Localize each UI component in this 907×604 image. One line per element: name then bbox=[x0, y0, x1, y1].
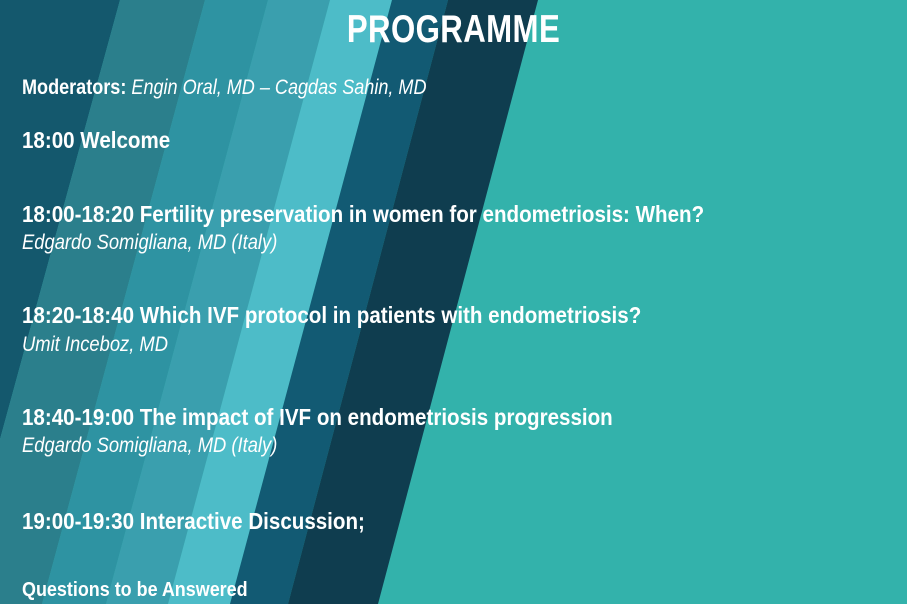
session-title: 18:40-19:00 The impact of IVF on endomet… bbox=[22, 404, 884, 431]
session-interactive-discussion: 19:00-19:30 Interactive Discussion; bbox=[22, 508, 885, 535]
programme-slide: PROGRAMME Moderators: Engin Oral, MD – C… bbox=[0, 0, 907, 604]
moderators-line: Moderators: Engin Oral, MD – Cagdas Sahi… bbox=[22, 76, 764, 101]
session-welcome: 18:00 Welcome bbox=[22, 127, 885, 154]
session-ivf-impact: 18:40-19:00 The impact of IVF on endomet… bbox=[22, 404, 885, 458]
page-title: PROGRAMME bbox=[108, 0, 798, 49]
moderators-label: Moderators: bbox=[22, 76, 126, 99]
session-title: 19:00-19:30 Interactive Discussion; bbox=[22, 508, 884, 535]
session-ivf-protocol: 18:20-18:40 Which IVF protocol in patien… bbox=[22, 302, 885, 356]
session-speaker: Umit Inceboz, MD bbox=[22, 332, 884, 357]
session-title: 18:00-18:20 Fertility preservation in wo… bbox=[22, 201, 884, 228]
moderators-names: Engin Oral, MD – Cagdas Sahin, MD bbox=[131, 76, 426, 99]
session-title: 18:20-18:40 Which IVF protocol in patien… bbox=[22, 302, 884, 329]
slide-content: PROGRAMME Moderators: Engin Oral, MD – C… bbox=[0, 0, 907, 604]
session-title: 18:00 Welcome bbox=[22, 127, 884, 154]
session-speaker: Edgardo Somigliana, MD (Italy) bbox=[22, 230, 884, 255]
questions-heading: Questions to be Answered bbox=[22, 578, 884, 602]
session-speaker: Edgardo Somigliana, MD (Italy) bbox=[22, 433, 884, 458]
session-fertility-preservation: 18:00-18:20 Fertility preservation in wo… bbox=[22, 201, 885, 255]
